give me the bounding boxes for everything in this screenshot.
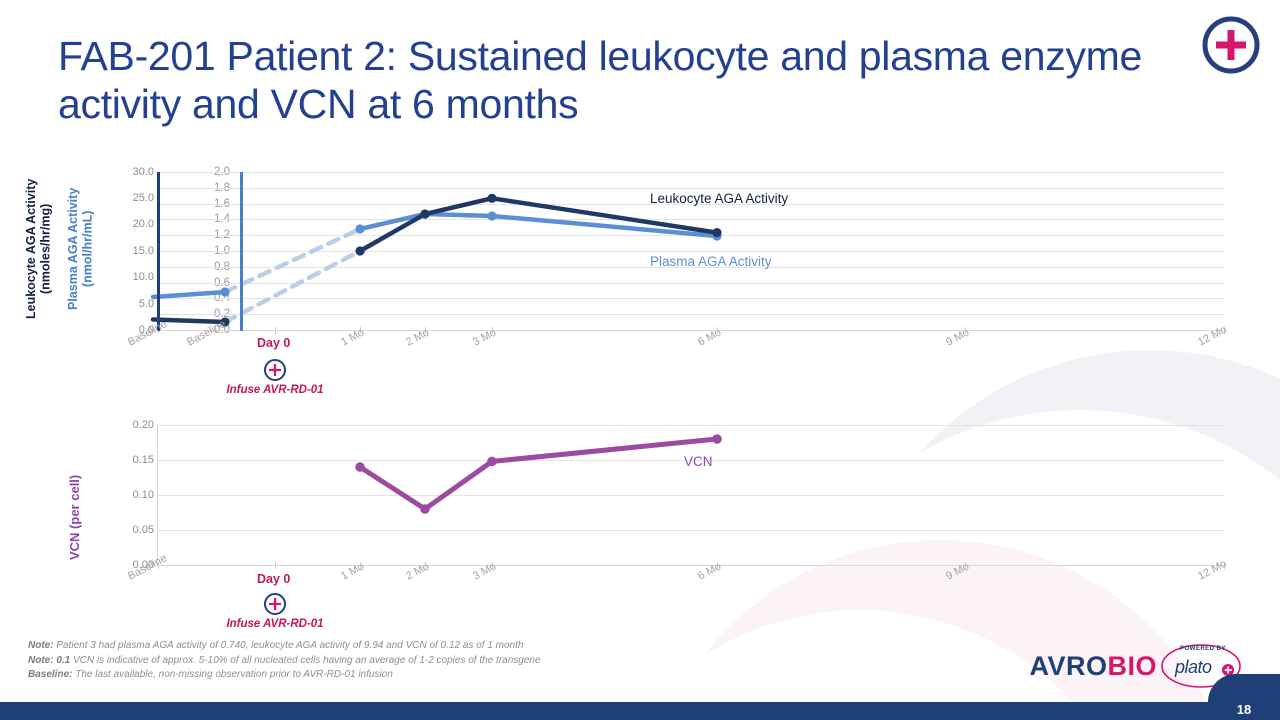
infusion-caption: Infuse AVR-RD-01	[200, 384, 350, 396]
x-tick-label-day0: Day 0	[257, 336, 290, 350]
page-number-badge: 18	[1208, 674, 1280, 720]
footnotes: Note: Patient 3 had plasma AGA activity …	[28, 639, 788, 682]
plot-area-vcn	[158, 425, 1225, 565]
footnote-2: Note: 0.1 VCN is indicative of approx. 5…	[28, 654, 788, 668]
y-tick-label: 5.0	[139, 298, 154, 310]
y-tick-label: 0.15	[133, 454, 154, 466]
series-label-plasma: Plasma AGA Activity	[650, 254, 772, 269]
footnote-3-label: Baseline:	[28, 669, 72, 680]
footnote-3-text: The last available, non-missing observat…	[72, 669, 392, 680]
plus-circle-icon	[263, 358, 287, 382]
y-tick-label: 25.0	[133, 192, 154, 204]
footnote-2-text: VCN is indicative of approx. 5-10% of al…	[70, 655, 540, 666]
axis-title-leukocyte-line2: (nmoles/hr/mg)	[38, 204, 52, 294]
footer-bar	[0, 702, 1280, 720]
y-tick-label: 10.0	[133, 271, 154, 283]
series-label-vcn: VCN	[684, 454, 713, 469]
y-tick-label: 0.10	[133, 489, 154, 501]
y-tick-label: 30.0	[133, 166, 154, 178]
axis-title-plasma-line2: (nmol/hr/mL)	[80, 211, 94, 287]
footnote-1: Note: Patient 3 had plasma AGA activity …	[28, 639, 788, 653]
footnote-3: Baseline: The last available, non-missin…	[28, 668, 788, 682]
footnote-1-label: Note:	[28, 640, 54, 651]
axis-line-secondary	[240, 172, 243, 331]
avrobio-logo: AVROBIO POWERED BY plato	[1029, 644, 1242, 688]
x-tick-label-day0: Day 0	[257, 572, 290, 586]
footnote-2-label: Note: 0.1	[28, 655, 70, 666]
infusion-caption: Infuse AVR-RD-01	[200, 618, 350, 630]
axis-title-plasma: Plasma AGA Activity (nmol/hr/mL)	[66, 168, 95, 330]
chart-vcn: VCN (per cell) 0.00 0.05 0.10 0.15 0.20	[0, 400, 1280, 650]
y-tick-label: 0.05	[133, 524, 154, 536]
infusion-marker-bottom: Infuse AVR-RD-01	[200, 592, 350, 630]
series-label-leukocyte: Leukocyte AGA Activity	[650, 191, 788, 206]
footnote-1-text: Patient 3 had plasma AGA activity of 0.7…	[54, 640, 524, 651]
axis-title-leukocyte: Leukocyte AGA Activity (nmoles/hr/mg)	[24, 168, 53, 330]
axis-title-leukocyte-line1: Leukocyte AGA Activity	[24, 179, 38, 319]
slide-root: FAB-201 Patient 2: Sustained leukocyte a…	[0, 0, 1280, 720]
infusion-marker-top: Infuse AVR-RD-01	[200, 358, 350, 396]
axis-line-left	[157, 172, 160, 331]
y-tick-label: 15.0	[133, 245, 154, 257]
logo-bio-text: BIO	[1107, 651, 1157, 682]
y-tick-label: 20.0	[133, 218, 154, 230]
chart-aga-activity: Leukocyte AGA Activity (nmoles/hr/mg) Pl…	[0, 0, 1280, 400]
axis-title-plasma-line1: Plasma AGA Activity	[66, 188, 80, 310]
plus-circle-icon	[263, 592, 287, 616]
plato-wordmark: plato	[1175, 657, 1212, 678]
y-axis-vcn-labels: 0.00 0.05 0.10 0.15 0.20	[110, 400, 154, 650]
logo-avro-text: AVRO	[1029, 651, 1107, 682]
y-tick-label: 0.20	[133, 419, 154, 431]
axis-title-vcn: VCN (per cell)	[68, 452, 83, 582]
powered-by-label: POWERED BY	[1180, 646, 1226, 652]
series-lines-vcn	[158, 425, 1225, 565]
axis-line-vcn-left	[157, 425, 158, 566]
